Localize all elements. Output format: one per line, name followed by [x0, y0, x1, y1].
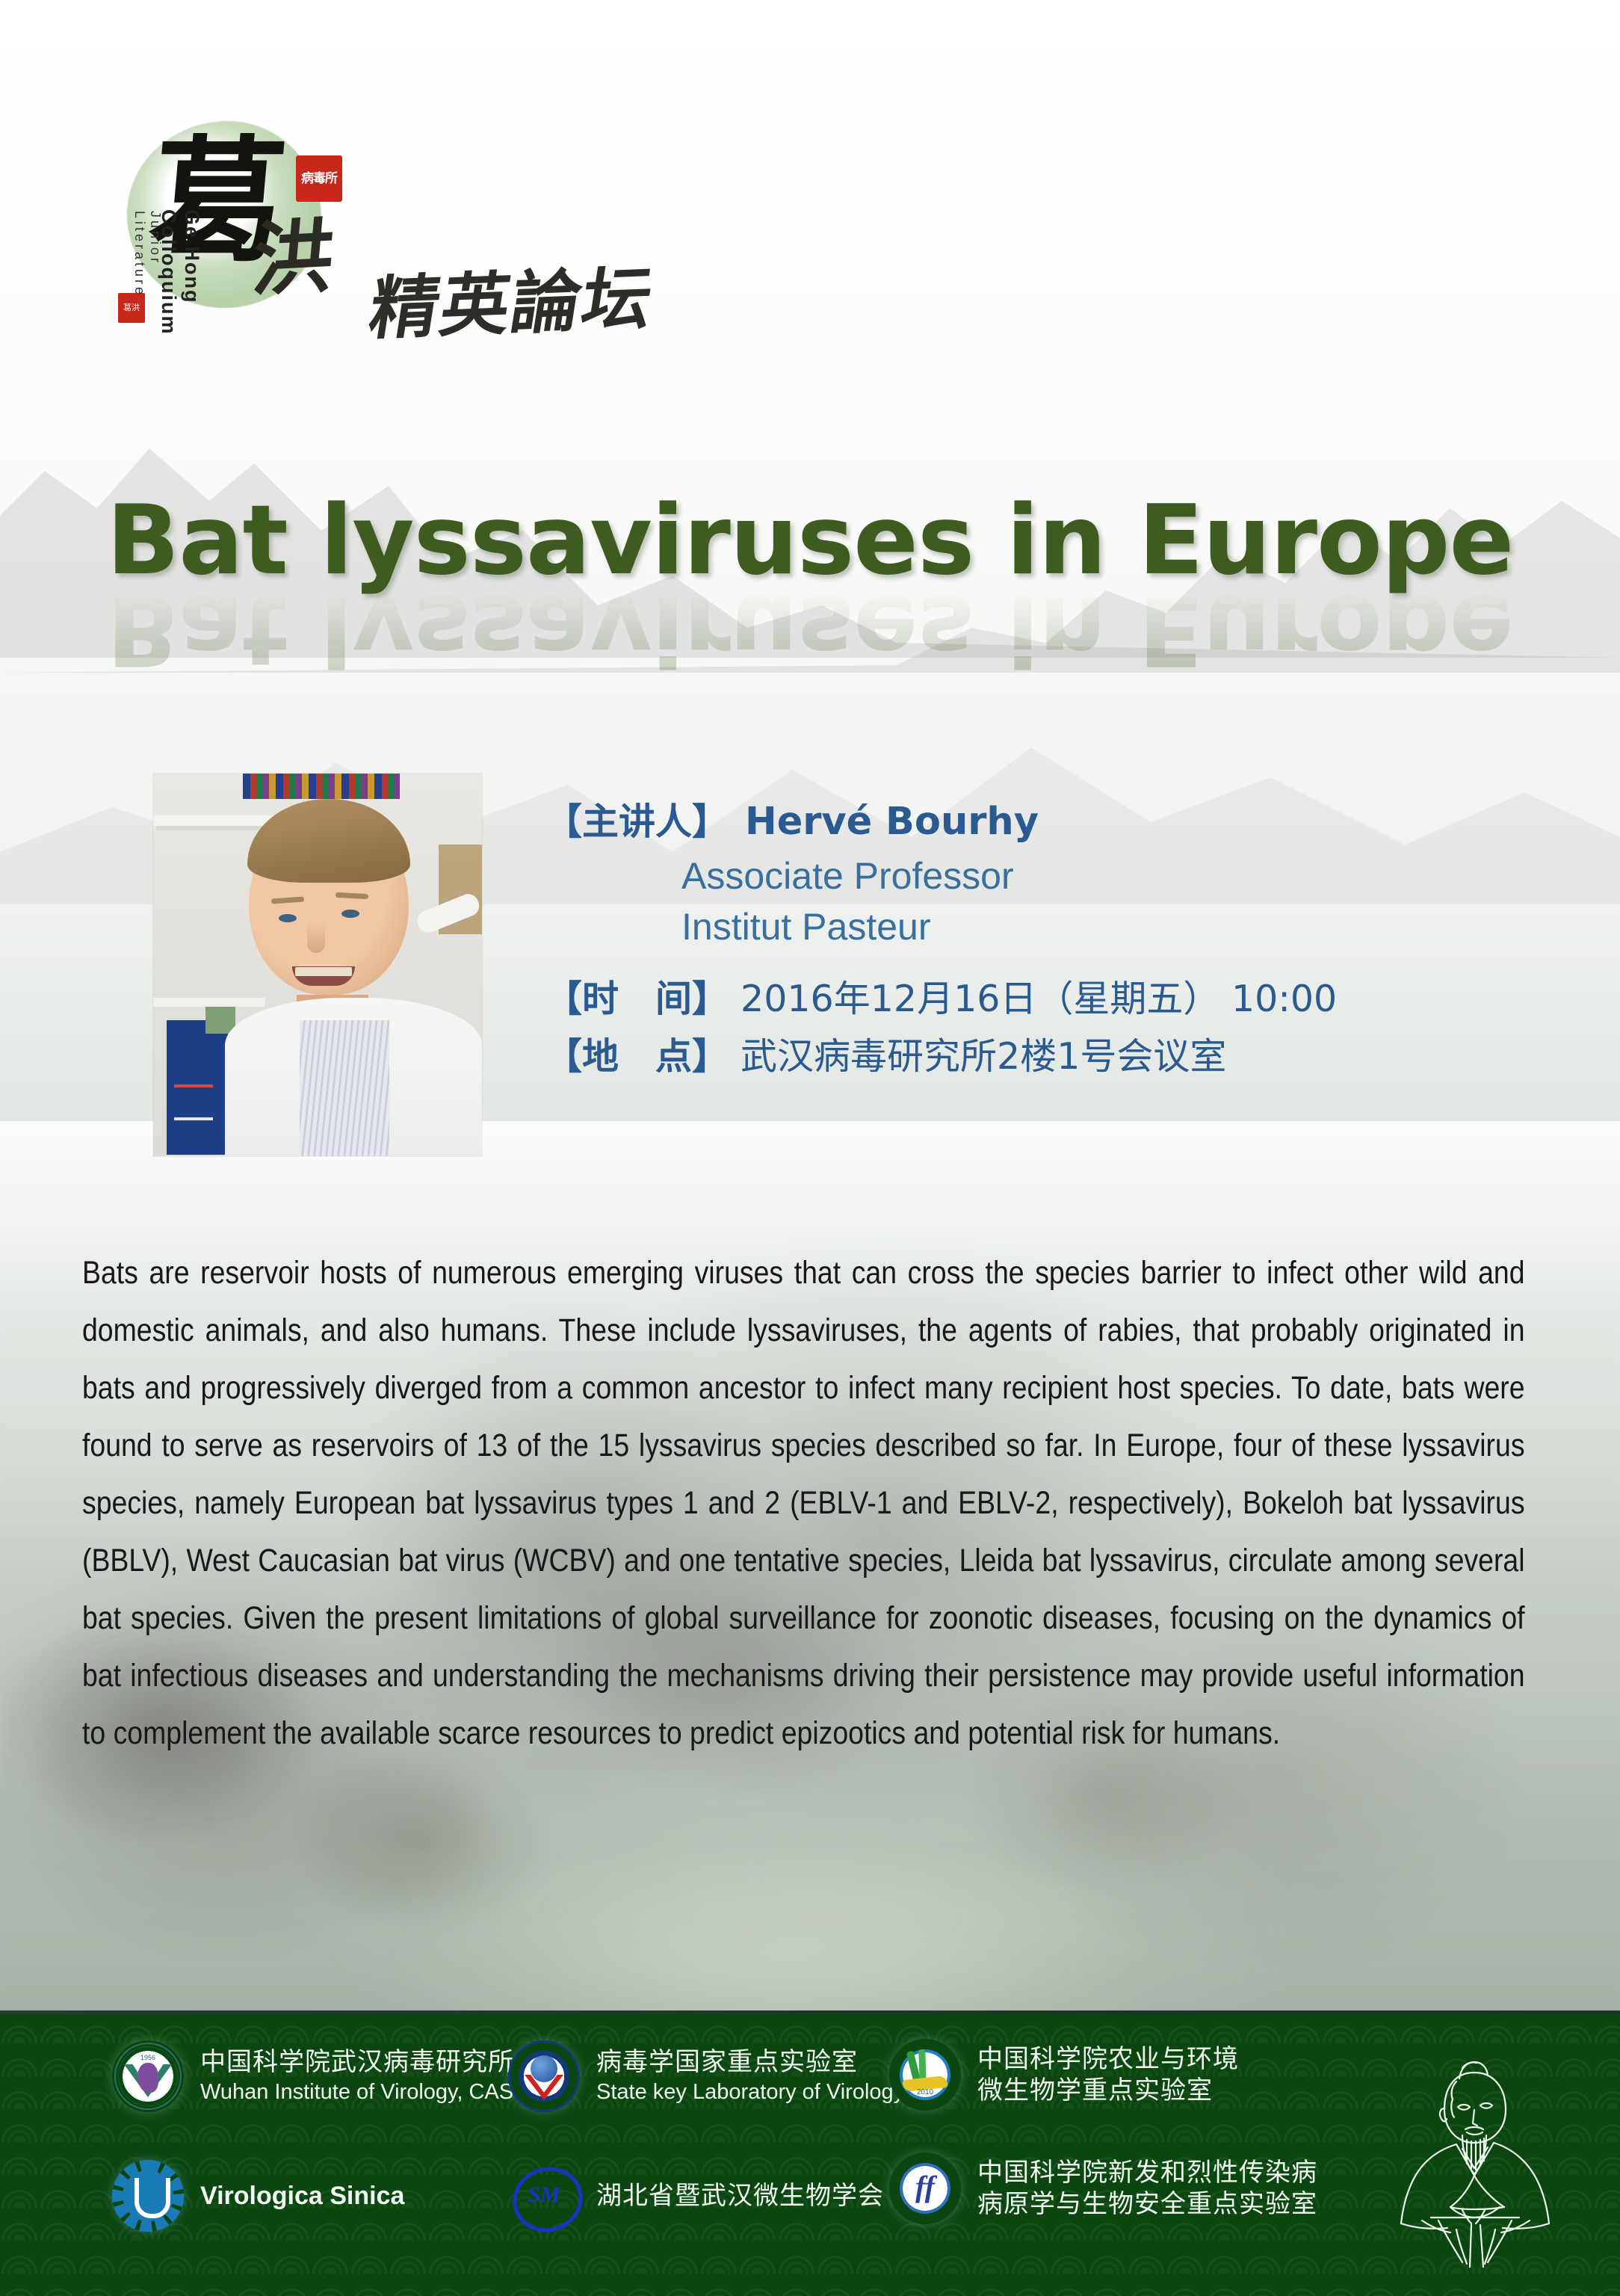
agri-name-cn-line1: 中国科学院农业与环境 [977, 2043, 1239, 2075]
emerging-infectious-diseases-lab-logo: ff [889, 2152, 961, 2224]
speaker-label: 【主讲人】 [545, 792, 729, 845]
speaker-affiliation-row: Institut Pasteur [681, 905, 1554, 948]
poster-root: 葛 洪 病毒所 葛洪 Ge Hong Colloquium Junior Lit… [0, 0, 1620, 2296]
virologica-sinica-logo [112, 2160, 184, 2232]
place-value: 武汉病毒研究所2楼1号会议室 [741, 1027, 1226, 1080]
logo-hong-character: 洪 [249, 216, 337, 301]
wuhan-institute-of-virology-logo: 1956 [112, 2040, 184, 2112]
red-seal-icon-top: 病毒所 [296, 155, 342, 202]
photo-shelf-edge-lower [153, 998, 265, 1007]
ge-hong-colloquium-logo: 葛 洪 病毒所 葛洪 Ge Hong Colloquium Junior Lit… [112, 112, 590, 359]
footer-org-virologica: Virologica Sinica [112, 2160, 404, 2232]
footer-org-skl: 病毒学国家重点实验室 State key Laboratory of Virol… [508, 2040, 904, 2112]
photo-eye-left [279, 914, 297, 922]
wiv-logo-year: 1956 [112, 2054, 184, 2061]
time-label: 【时 间】 [545, 969, 729, 1022]
wiv-name-cn: 中国科学院武汉病毒研究所 [200, 2046, 514, 2078]
skl-name-cn: 病毒学国家重点实验室 [596, 2046, 904, 2078]
photo-blue-poster [167, 1020, 228, 1155]
event-place-row: 【地 点】 武汉病毒研究所2楼1号会议室 [545, 1027, 1554, 1080]
ge-hong-portrait-illustration [1379, 2052, 1573, 2276]
speaker-position-row: Associate Professor [681, 854, 1554, 898]
logo-vertical-english-sub: Junior Literature [132, 211, 163, 359]
speaker-details-block: 【主讲人】 Hervé Bourhy Associate Professor I… [545, 792, 1554, 1080]
footer-top-border [0, 2010, 1620, 2014]
agri-name-cn-line2: 微生物学重点实验室 [977, 2075, 1239, 2106]
event-time-row: 【时 间】 2016年12月16日（星期五） 10:00 [545, 969, 1554, 1022]
speaker-name-row: 【主讲人】 Hervé Bourhy [545, 792, 1554, 845]
microbiology-society-name-cn: 湖北省暨武汉微生物学会 [596, 2180, 884, 2212]
skl-name-en: State key Laboratory of Virology [596, 2078, 904, 2106]
photo-mouth [292, 966, 355, 986]
footer-org-microbiology-society: SM 湖北省暨武汉微生物学会 [508, 2160, 884, 2232]
seal-top-text: 病毒所 [301, 173, 337, 185]
sm-logo-mark: SM [508, 2182, 580, 2208]
speaker-portrait-photo [153, 774, 482, 1156]
virologica-sinica-name: Virologica Sinica [200, 2180, 404, 2212]
emerging-diseases-name-cn-line2: 病原学与生物安全重点实验室 [977, 2188, 1317, 2220]
logo-vertical-english-main: Ge Hong Colloquium [157, 209, 203, 359]
footer-org-agri: 2010 中国科学院农业与环境 微生物学重点实验室 [889, 2039, 1239, 2111]
agriculture-environment-microbiology-lab-logo: 2010 [889, 2039, 961, 2111]
emerging-diseases-name-cn-line1: 中国科学院新发和烈性传染病 [977, 2157, 1317, 2188]
page-title: Bat lyssaviruses in Europe [0, 493, 1620, 589]
page-title-reflection: Bat lyssaviruses in Europe [0, 581, 1620, 677]
photo-books [243, 774, 400, 799]
poster-title-block: Bat lyssaviruses in Europe Bat lyssaviru… [0, 493, 1620, 677]
footer-bar: 1956 中国科学院武汉病毒研究所 Wuhan Institute of Vir… [0, 2010, 1620, 2296]
state-key-laboratory-of-virology-logo [508, 2040, 580, 2112]
wiv-name-en: Wuhan Institute of Virology, CAS [200, 2078, 514, 2106]
hubei-wuhan-microbiology-society-logo: SM [508, 2160, 580, 2232]
photo-striped-shirt [300, 1020, 389, 1156]
speaker-name: Hervé Bourhy [745, 800, 1039, 844]
abstract-text: Bats are reservoir hosts of numerous eme… [82, 1244, 1525, 1762]
place-label: 【地 点】 [545, 1027, 729, 1080]
photo-nose [307, 922, 325, 953]
photo-eye-right [341, 910, 359, 918]
footer-org-emerging-diseases: ff 中国科学院新发和烈性传染病 病原学与生物安全重点实验室 [889, 2152, 1317, 2224]
speaker-affiliation: Institut Pasteur [681, 906, 931, 948]
logo-calligraphy-text: 精英論坛 [363, 243, 661, 353]
agri-logo-year: 2010 [889, 2088, 961, 2096]
speaker-position: Associate Professor [681, 855, 1014, 897]
time-value: 2016年12月16日（星期五） 10:00 [741, 969, 1337, 1022]
footer-org-wiv: 1956 中国科学院武汉病毒研究所 Wuhan Institute of Vir… [112, 2040, 514, 2112]
